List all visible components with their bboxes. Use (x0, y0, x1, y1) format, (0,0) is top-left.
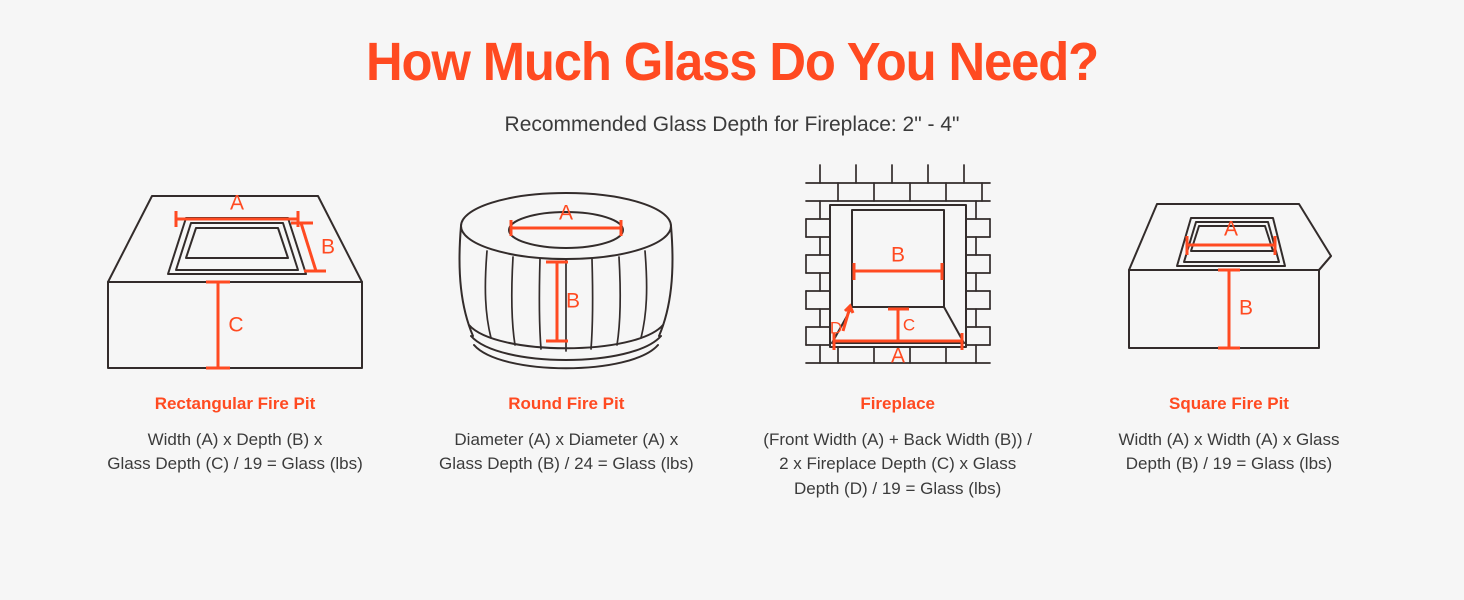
column-title-round-fire-pit: Round Fire Pit (508, 394, 624, 414)
column-round-fire-pit: A B Round Fire Pit Diameter (A) x Diamet… (401, 163, 731, 477)
dim-label-c: C (903, 315, 915, 334)
formula-line: Depth (B) / 19 = Glass (lbs) (1118, 452, 1339, 477)
diagram-round-fire-pit: A B (441, 163, 691, 378)
dim-label-c: C (228, 313, 243, 336)
diagram-columns: A B C Rectangular Fire Pit Width (A) x D… (0, 137, 1464, 502)
formula-square-fire-pit: Width (A) x Width (A) x Glass Depth (B) … (1118, 428, 1339, 477)
column-title-fireplace: Fireplace (860, 394, 935, 414)
formula-line: Width (A) x Depth (B) x (107, 428, 363, 453)
dim-label-b: B (321, 235, 335, 258)
dim-label-b: B (891, 243, 905, 266)
diagram-fireplace: B A C D (798, 163, 998, 378)
dim-label-b: B (1239, 296, 1253, 319)
page-title: How Much Glass Do You Need? (44, 34, 1420, 91)
formula-line: Diameter (A) x Diameter (A) x (439, 428, 694, 453)
dim-label-b: B (566, 289, 580, 312)
formula-line: (Front Width (A) + Back Width (B)) / (763, 428, 1032, 453)
formula-line: Depth (D) / 19 = Glass (lbs) (763, 477, 1032, 502)
dim-label-d: D (830, 318, 842, 337)
dim-label-a: A (891, 344, 905, 367)
formula-round-fire-pit: Diameter (A) x Diameter (A) x Glass Dept… (439, 428, 694, 477)
column-title-rectangular-fire-pit: Rectangular Fire Pit (155, 394, 316, 414)
formula-fireplace: (Front Width (A) + Back Width (B)) / 2 x… (763, 428, 1032, 502)
column-square-fire-pit: A B Square Fire Pit Width (A) x Width (A… (1064, 163, 1394, 477)
column-fireplace: B A C D Fireplace (Fron (733, 163, 1063, 502)
dim-label-a: A (1224, 217, 1238, 240)
diagram-rectangular-fire-pit: A B C (90, 163, 380, 378)
page-subtitle: Recommended Glass Depth for Fireplace: 2… (0, 113, 1464, 137)
formula-line: Glass Depth (C) / 19 = Glass (lbs) (107, 452, 363, 477)
diagram-square-fire-pit: A B (1119, 163, 1339, 378)
dim-label-a: A (230, 191, 244, 214)
dim-label-a: A (559, 201, 573, 224)
column-rectangular-fire-pit: A B C Rectangular Fire Pit Width (A) x D… (70, 163, 400, 477)
formula-line: 2 x Fireplace Depth (C) x Glass (763, 452, 1032, 477)
column-title-square-fire-pit: Square Fire Pit (1169, 394, 1289, 414)
formula-line: Glass Depth (B) / 24 = Glass (lbs) (439, 452, 694, 477)
formula-rectangular-fire-pit: Width (A) x Depth (B) x Glass Depth (C) … (107, 428, 363, 477)
infographic-page: How Much Glass Do You Need? Recommended … (0, 0, 1464, 600)
header: How Much Glass Do You Need? Recommended … (0, 0, 1464, 137)
formula-line: Width (A) x Width (A) x Glass (1118, 428, 1339, 453)
